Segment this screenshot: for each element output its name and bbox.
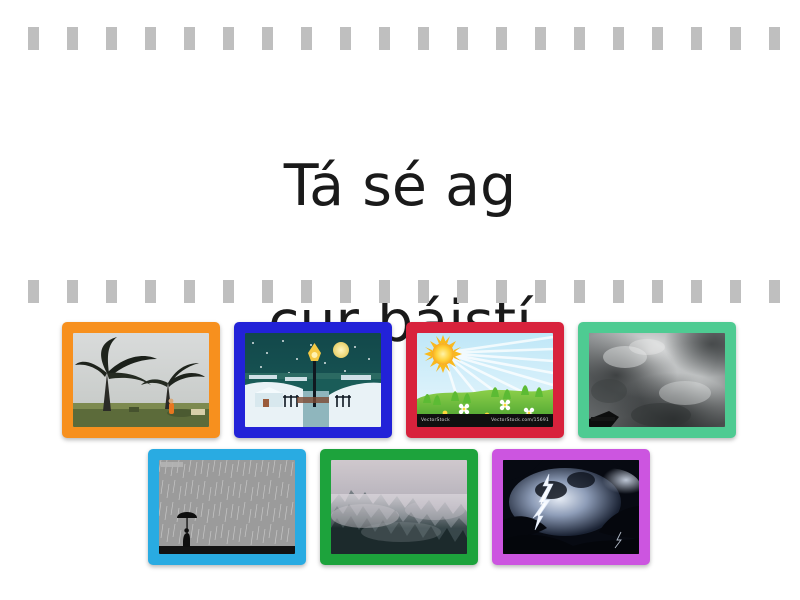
separator-dash	[691, 27, 702, 50]
sun-photo-svg	[417, 333, 553, 427]
separator-dash	[613, 27, 624, 50]
separator-dash	[457, 27, 468, 50]
separator-dash	[262, 280, 273, 303]
separator-dash	[145, 27, 156, 50]
separator-dash	[184, 27, 195, 50]
dash-group	[0, 27, 800, 50]
separator-dash	[301, 27, 312, 50]
answer-card-rain[interactable]	[148, 449, 306, 565]
answer-card-clouds[interactable]	[578, 322, 736, 438]
fog-photo-svg	[331, 460, 467, 554]
separator-dash	[340, 280, 351, 303]
separator-dash	[223, 280, 234, 303]
watermark-id: VectorStock.com/15691	[491, 418, 549, 423]
windy-palm-trees-image	[73, 333, 209, 427]
foggy-forest-image	[331, 460, 467, 554]
separator-dash	[379, 27, 390, 50]
separator-dash	[613, 280, 624, 303]
separator-dash	[28, 280, 39, 303]
answer-card-sun[interactable]: VectorStock VectorStock.com/15691	[406, 322, 564, 438]
prompt-line-1: Tá sé ag	[284, 153, 516, 219]
separator-dash	[418, 280, 429, 303]
separator-dash	[730, 280, 741, 303]
lightning-photo-svg	[503, 460, 639, 554]
separator-dash	[652, 27, 663, 50]
separator-dash	[730, 27, 741, 50]
separator-dash	[535, 27, 546, 50]
separator-dash	[106, 27, 117, 50]
separator-dash	[223, 27, 234, 50]
answer-card-snow[interactable]	[234, 322, 392, 438]
separator-dash	[769, 280, 780, 303]
answer-card-fog[interactable]	[320, 449, 478, 565]
separator-dash	[535, 280, 546, 303]
separator-dash	[379, 280, 390, 303]
separator-dash	[301, 280, 312, 303]
separator-dash	[496, 27, 507, 50]
separator-dash	[145, 280, 156, 303]
separator-dash	[340, 27, 351, 50]
separator-dash	[457, 280, 468, 303]
page-title: Tá sé ag cur báistí	[0, 84, 800, 356]
separator-dash	[67, 280, 78, 303]
separator-dash	[691, 280, 702, 303]
answer-card-wind[interactable]	[62, 322, 220, 438]
clouds-photo-svg	[589, 333, 725, 427]
rain-photo-svg	[159, 460, 295, 554]
snow-photo-svg	[245, 333, 381, 427]
answer-card-lightning[interactable]	[492, 449, 650, 565]
separator-dash	[67, 27, 78, 50]
separator-dash	[418, 27, 429, 50]
snowy-night-village-image	[245, 333, 381, 427]
separator-dash	[652, 280, 663, 303]
dash-group	[0, 280, 800, 303]
watermark-brand: VectorStock	[421, 418, 450, 423]
separator-dash	[106, 280, 117, 303]
separator-dash	[184, 280, 195, 303]
stock-watermark-bar: VectorStock VectorStock.com/15691	[417, 414, 553, 427]
lightning-storm-image	[503, 460, 639, 554]
separator-dash	[496, 280, 507, 303]
separator-dash	[262, 27, 273, 50]
rain-umbrella-silhouette-image	[159, 460, 295, 554]
separator-dash	[574, 27, 585, 50]
dashed-separator-middle	[0, 279, 800, 303]
storm-clouds-image	[589, 333, 725, 427]
dashed-separator-top	[0, 26, 800, 50]
separator-dash	[769, 27, 780, 50]
sunny-meadow-image: VectorStock VectorStock.com/15691	[417, 333, 553, 427]
wind-photo-svg	[73, 333, 209, 427]
separator-dash	[28, 27, 39, 50]
separator-dash	[574, 280, 585, 303]
